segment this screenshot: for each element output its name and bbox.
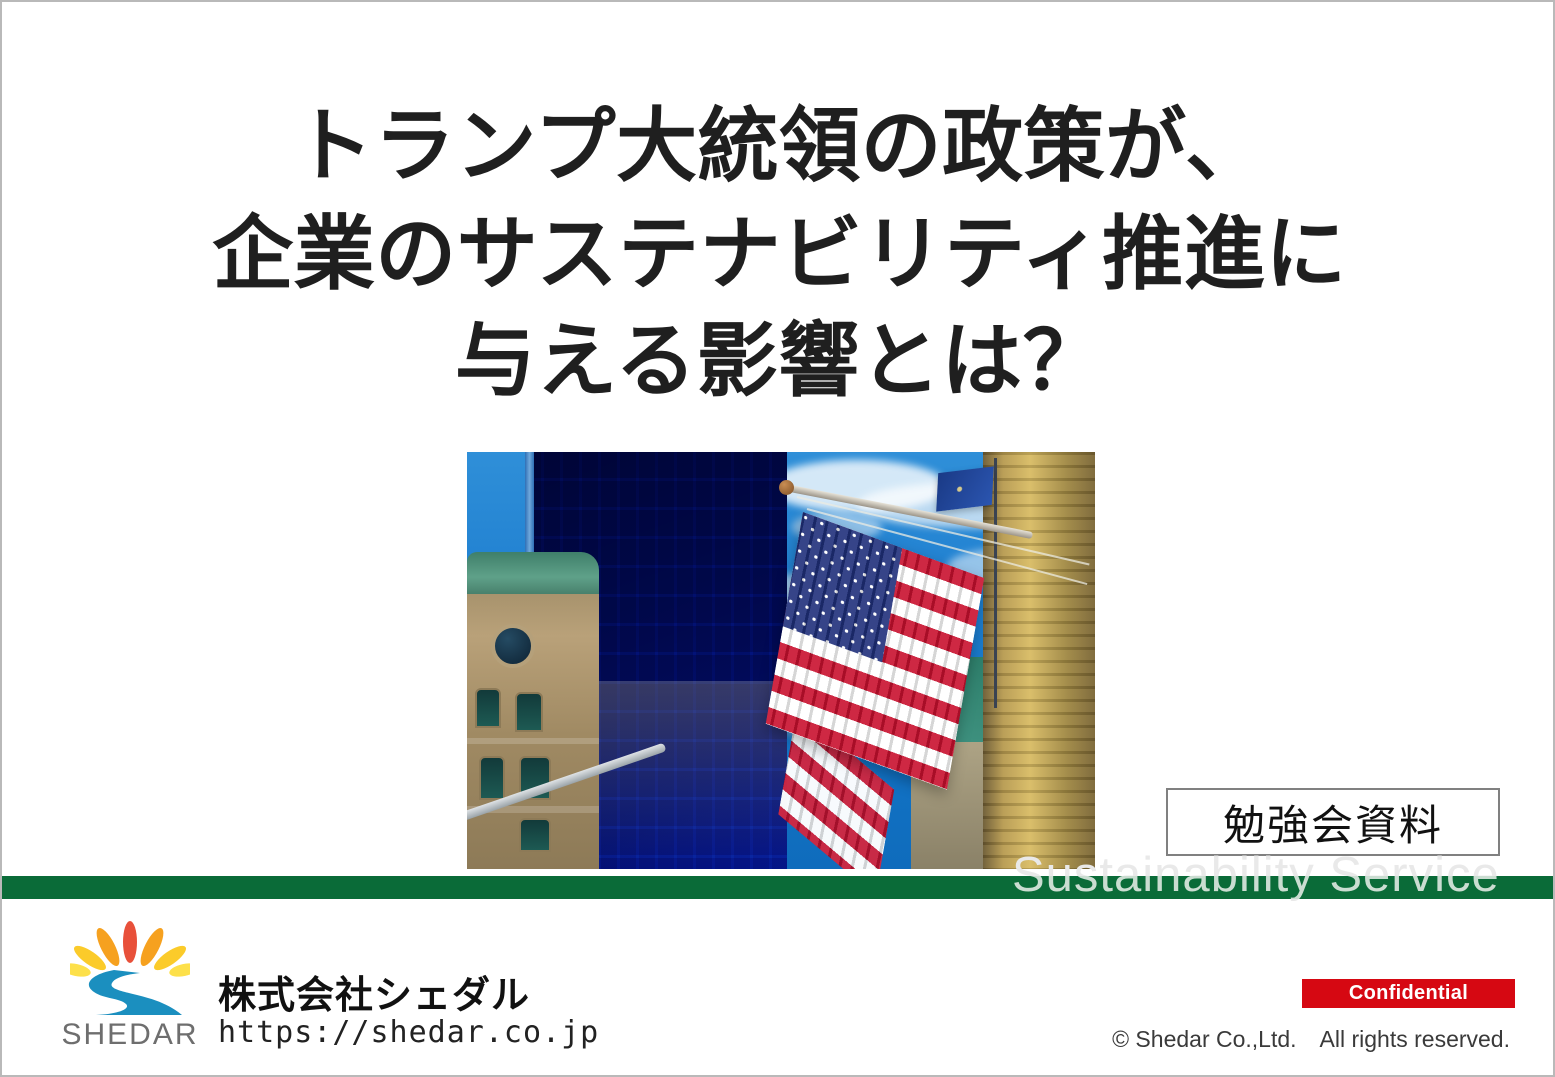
photo-oculus-window: [491, 624, 535, 668]
title-line-1: トランプ大統領の政策が、: [2, 94, 1555, 202]
confidential-label: Confidential: [1349, 982, 1468, 1005]
photo-window: [475, 688, 501, 728]
title-line-2: 企業のサステナビリティ推進に: [2, 202, 1555, 310]
photo-blue-flag: [936, 466, 994, 511]
company-name: 株式会社シェダル: [218, 964, 530, 1019]
confidential-badge: Confidential: [1302, 979, 1515, 1008]
river-s-icon: [78, 968, 182, 1018]
photo-flagpole-finial: [779, 480, 794, 495]
page-title: トランプ大統領の政策が、 企業のサステナビリティ推進に 与える影響とは？: [2, 94, 1555, 417]
copyright-notice: © Shedar Co.,Ltd. All rights reserved.: [1112, 1020, 1510, 1054]
title-line-3: 与える影響とは？: [2, 309, 1555, 417]
photo-window: [515, 692, 543, 732]
photo-copper-roof: [467, 552, 599, 594]
photo-cornice: [467, 738, 599, 744]
status-badge-study-material: 勉強会資料: [1166, 788, 1500, 856]
photo-historic-building: [467, 570, 599, 869]
hero-photo-us-flag-cityscape: [467, 452, 1095, 869]
green-divider-bar: [2, 876, 1555, 899]
photo-secondary-flagpole: [994, 458, 997, 708]
logo-wordmark: SHEDAR: [60, 1018, 200, 1052]
photo-window: [479, 756, 505, 800]
study-material-label: 勉強会資料: [1223, 792, 1443, 853]
slide-canvas: トランプ大統領の政策が、 企業のサステナビリティ推進に 与える影響とは？: [0, 0, 1555, 1077]
company-url[interactable]: https://shedar.co.jp: [218, 1015, 599, 1050]
shedar-logo: SHEDAR: [60, 920, 200, 1055]
photo-ochre-building: [983, 452, 1095, 869]
photo-window: [519, 818, 551, 852]
